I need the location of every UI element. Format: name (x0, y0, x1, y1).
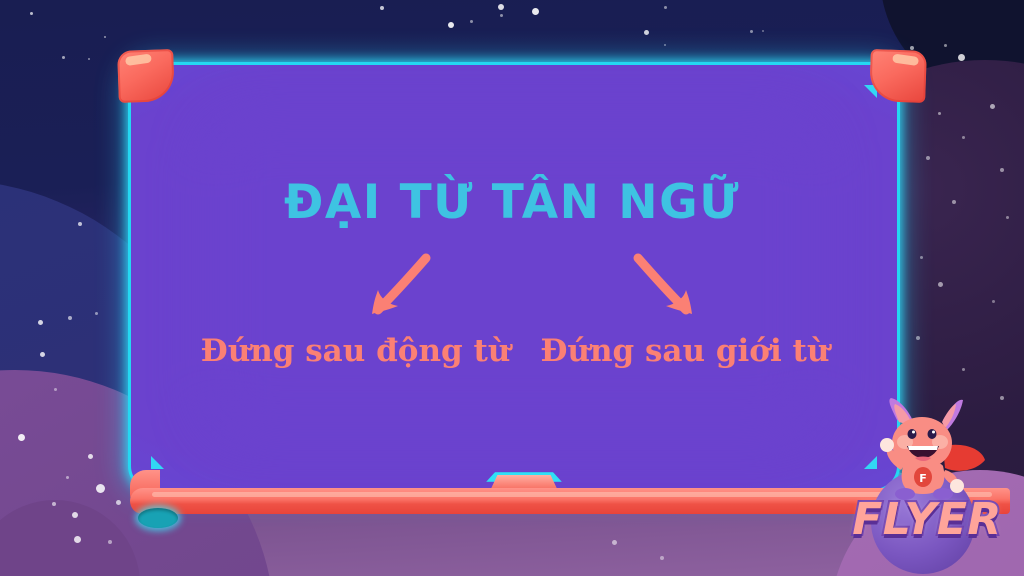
branch-labels: Đứng sau động từ Đứng sau giới từ (160, 333, 870, 369)
branch-label-verb: Đứng sau động từ (201, 333, 511, 369)
panel-core (208, 120, 821, 434)
branch-label-preposition: Đứng sau giới từ (540, 333, 829, 369)
content-panel (128, 62, 900, 492)
page-title: ĐẠI TỪ TÂN NGỮ (0, 175, 1024, 230)
flyer-logo: F FLYER (835, 398, 1015, 568)
mascot-badge-letter: F (919, 472, 927, 485)
corner-tick-bottomleft-icon (151, 456, 164, 469)
flyer-wordmark: FLYER (841, 494, 1013, 545)
slide-canvas: ĐẠI TỪ TÂN NGỮ Đứng sau động từ Đứng sau… (0, 0, 1024, 576)
arrow-down-right-icon (630, 252, 720, 322)
stand-foot (138, 508, 178, 528)
arrow-down-left-icon (350, 252, 440, 322)
panel-screen (131, 65, 897, 489)
